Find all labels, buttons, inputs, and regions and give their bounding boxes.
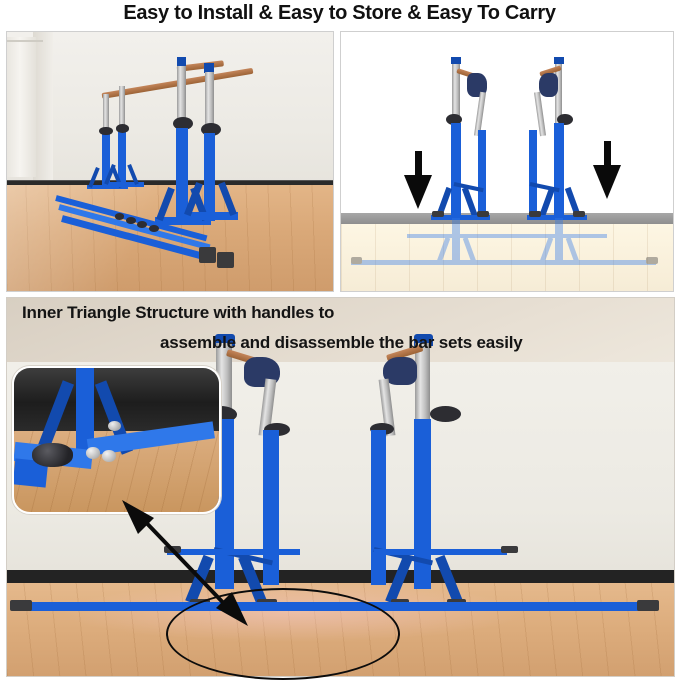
photo-panel-storing: [340, 31, 674, 292]
rear-left-knob: [99, 127, 113, 136]
front-left-upright-chrome: [177, 66, 185, 123]
inset-detail-photo: [12, 366, 221, 514]
caption-line-1: Inner Triangle Structure with handles to: [22, 303, 334, 323]
front-right-upright-chrome: [205, 72, 213, 129]
left-unit-foot-b: [477, 211, 489, 218]
down-arrow-right-icon: [593, 141, 621, 203]
rear-right-knob: [116, 124, 130, 133]
far-unit-mid-rail: [374, 549, 507, 554]
loose-hardware-3: [137, 221, 147, 228]
arrow-stem: [604, 141, 611, 167]
inset-bolt-3: [108, 421, 120, 431]
arrow-head: [593, 165, 621, 199]
loose-hardware-4: [149, 225, 159, 232]
product-feature-image: Easy to Install & Easy to Store & Easy T…: [0, 0, 679, 678]
room-wall: [7, 32, 333, 193]
far-unit-mid-rail-foot: [501, 546, 518, 554]
ghost-left-upright: [452, 218, 460, 262]
main-floor-rail-left-cap: [10, 600, 31, 611]
base-highlight-ellipse: [166, 588, 400, 680]
front-left-upright: [176, 128, 188, 219]
inset-hand-knob-icon: [32, 443, 73, 467]
loose-hardware-2: [126, 217, 136, 224]
arrow-stem: [415, 151, 422, 177]
left-unit-upright: [451, 123, 461, 216]
main-floor-rail-right-cap: [637, 600, 658, 611]
far-unit-adjust-knob: [430, 406, 461, 422]
far-unit-front-upright: [371, 430, 386, 585]
loose-rail-endcap-2: [217, 252, 233, 268]
right-unit-upright: [554, 123, 564, 216]
front-right-upright: [204, 133, 216, 221]
right-unit-grip-pad: [539, 73, 559, 96]
right-unit-front-upright: [529, 130, 538, 215]
ghost-rail-lower: [351, 260, 656, 265]
arrow-head: [404, 175, 432, 209]
ghost-foot-right: [646, 257, 657, 263]
ghost-rail-upper: [407, 234, 606, 238]
ghost-foot-left: [351, 257, 362, 263]
curtain-rod: [7, 40, 43, 42]
left-unit-top-cap: [451, 57, 461, 65]
curtain: [7, 37, 36, 177]
page-title: Easy to Install & Easy to Store & Easy T…: [0, 0, 679, 26]
far-unit-upright-chrome: [415, 343, 430, 419]
floor-edge-strip: [341, 213, 673, 223]
photo-panel-assembled: [6, 31, 334, 292]
right-unit-foot-a: [529, 211, 541, 218]
ghost-right-upright: [555, 218, 563, 262]
inset-bolt-1: [86, 447, 100, 459]
down-arrow-left-icon-body: [404, 151, 432, 213]
studio-backdrop: [341, 32, 673, 213]
right-unit-top-cap: [554, 57, 564, 65]
left-unit-rear-upright: [478, 130, 487, 215]
loose-rail-endcap-1: [199, 247, 215, 263]
right-unit-foot-b: [573, 211, 585, 218]
left-unit-foot-a: [432, 211, 444, 218]
inset-bolt-2: [102, 450, 116, 462]
caption-line-2: assemble and disassemble the bar sets ea…: [160, 333, 523, 353]
